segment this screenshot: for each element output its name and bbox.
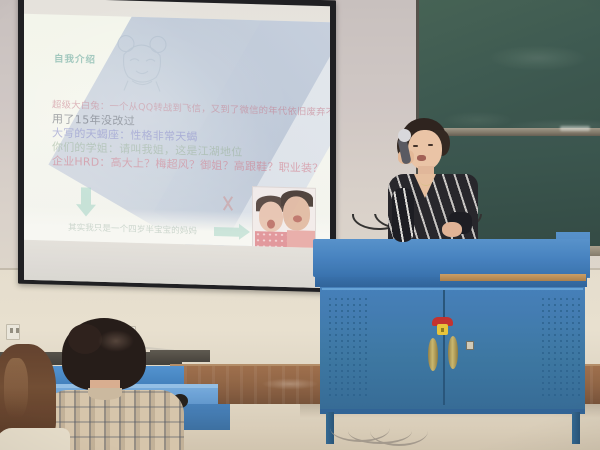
podium-top-surface bbox=[313, 239, 590, 277]
chibi-girl-icon bbox=[116, 30, 168, 93]
student-a-hair-bun bbox=[68, 324, 102, 354]
podium-wood-lip bbox=[440, 274, 586, 281]
slide-title: 自我介绍 bbox=[54, 51, 96, 66]
student-long-hair bbox=[0, 344, 70, 450]
desk-side-panel bbox=[182, 404, 230, 430]
podium-leg-right bbox=[572, 412, 580, 444]
padlock-keyhole-icon bbox=[441, 328, 444, 332]
podium-door-top-edge bbox=[322, 288, 583, 290]
presenter-left-arm bbox=[392, 188, 414, 242]
slide-photo-mother-and-child bbox=[252, 186, 316, 248]
podium-door-seam bbox=[443, 290, 445, 405]
presenter-eye-right bbox=[428, 144, 433, 146]
podium-handle-left[interactable] bbox=[428, 338, 438, 371]
student-a-collar bbox=[88, 388, 122, 400]
podium-perforated-panel-left bbox=[327, 296, 367, 396]
presenter-right-hand bbox=[442, 222, 462, 237]
presenter-necklace bbox=[420, 176, 432, 186]
presenter-woman bbox=[386, 118, 482, 258]
red-cross-mark-icon bbox=[220, 195, 236, 211]
projector-screen-surface: 自我介绍 超级大白兔：一个从QQ转战到飞信，又到了微信的年代依旧废弃不下的网名 … bbox=[24, 0, 330, 288]
slide-text-block: 超级大白兔：一个从QQ转战到飞信，又到了微信的年代依旧废弃不下的网名 用了15年… bbox=[52, 99, 324, 177]
classroom-photo-scene: 自我介绍 超级大白兔：一个从QQ转战到飞信，又到了微信的年代依旧废弃不下的网名 … bbox=[0, 0, 600, 450]
presentation-slide: 自我介绍 超级大白兔：一个从QQ转战到飞信，又到了微信的年代依旧废弃不下的网名 … bbox=[24, 14, 330, 249]
presenter-eye-left bbox=[413, 145, 418, 147]
wall-outlet-2 bbox=[6, 324, 20, 340]
student-b-hair-highlight bbox=[4, 358, 28, 418]
microphone-head-icon bbox=[398, 129, 411, 142]
podium-handle-right[interactable] bbox=[448, 336, 458, 369]
presenter-mouth bbox=[417, 155, 426, 161]
podium-keyhole bbox=[466, 341, 474, 350]
under-podium-cables bbox=[330, 414, 450, 448]
student-b-shoulder bbox=[0, 428, 70, 450]
chalk-dust bbox=[560, 126, 590, 131]
presenter-face bbox=[408, 130, 442, 170]
podium-perforated-panel-right bbox=[540, 296, 580, 396]
student-a-hair-highlight bbox=[98, 330, 134, 352]
